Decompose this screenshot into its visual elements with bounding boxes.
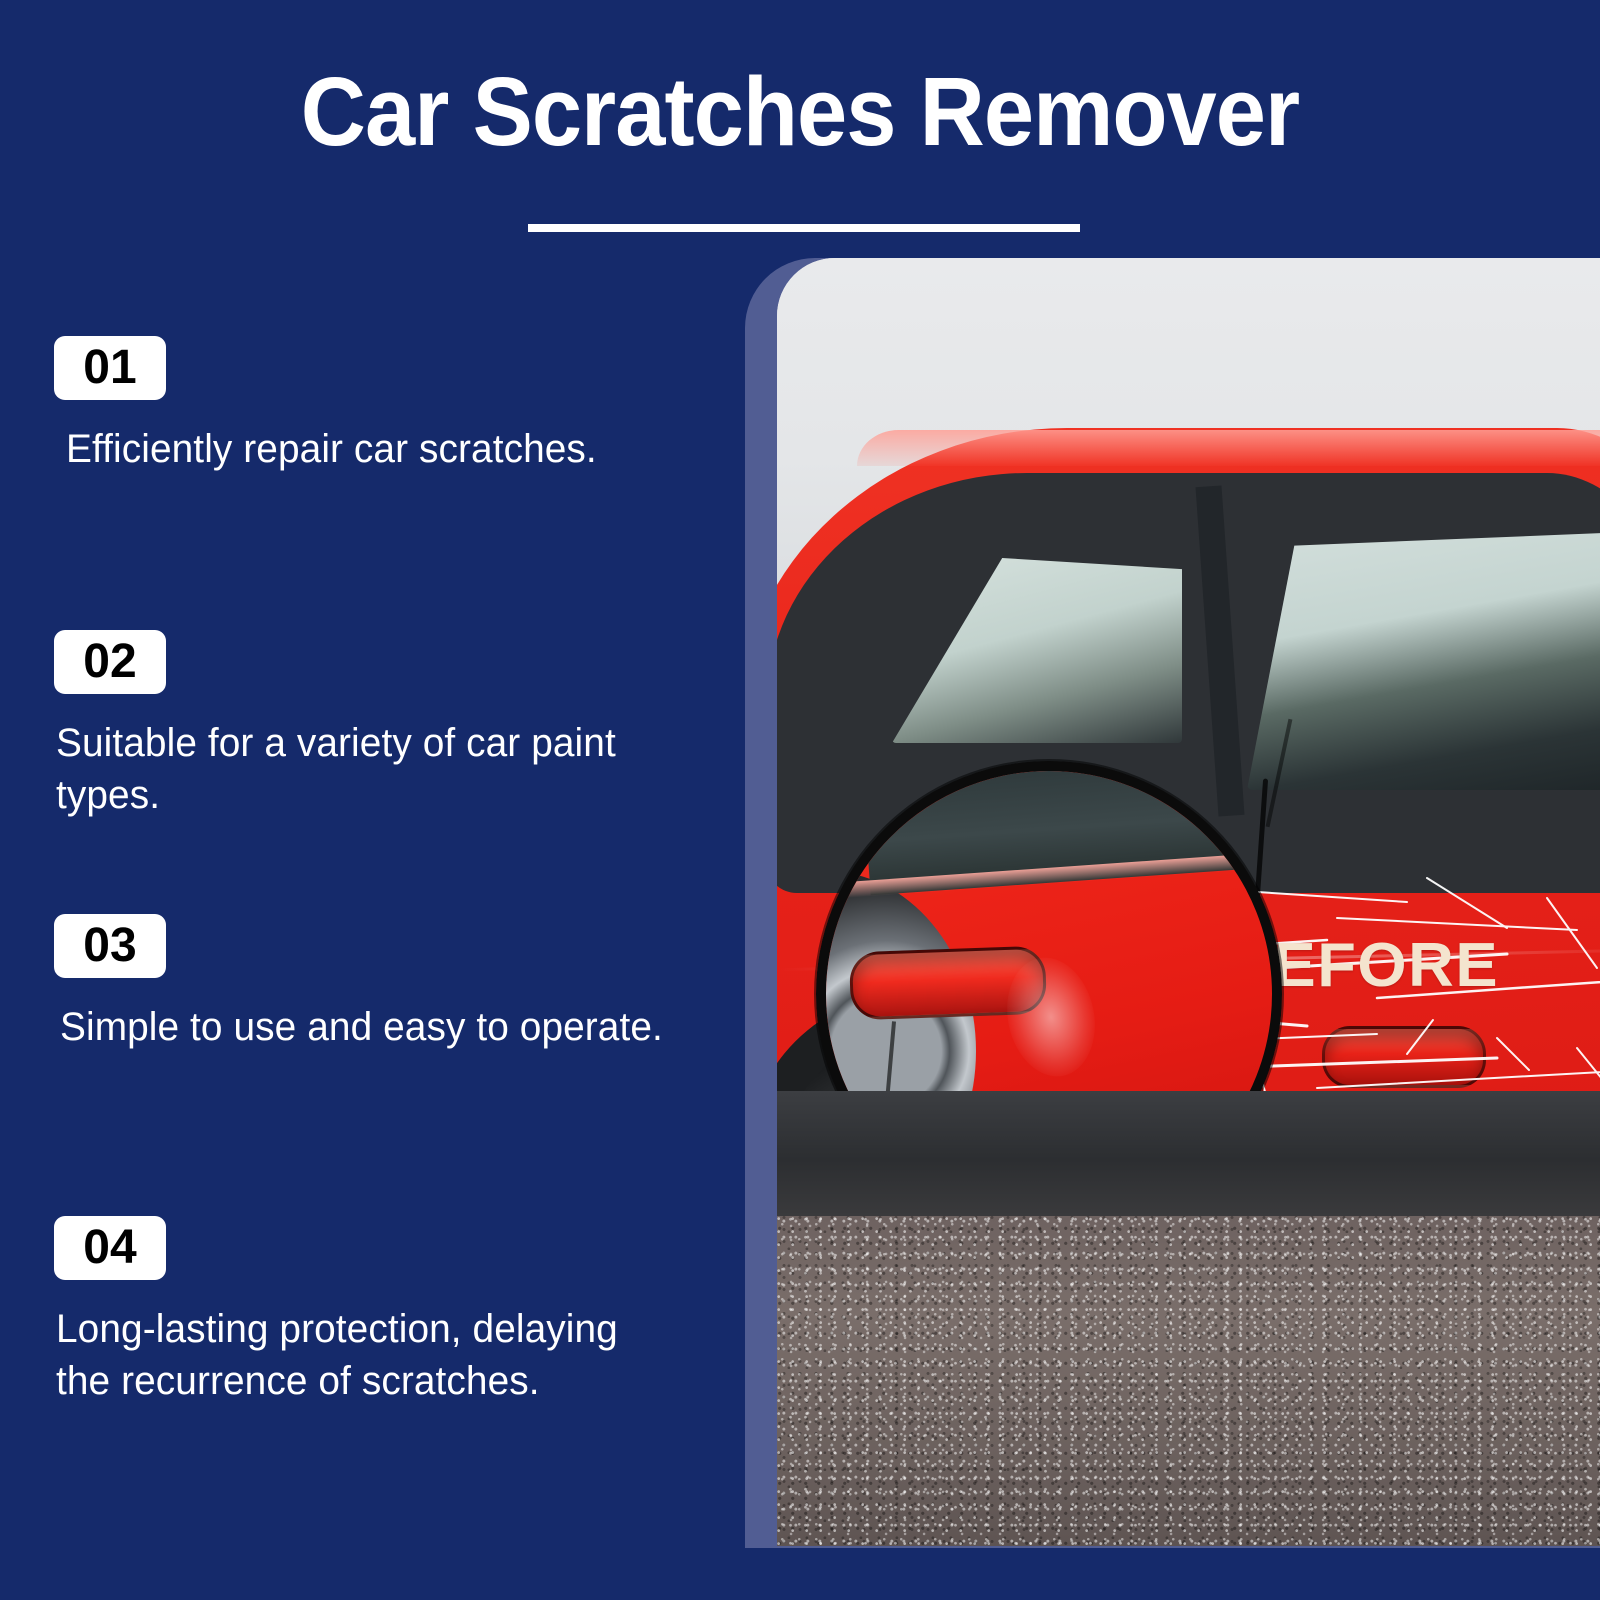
- feature-item: 03 Simple to use and easy to operate.: [0, 914, 720, 1053]
- feature-item: 04 Long-lasting protection, delaying the…: [0, 1216, 720, 1407]
- roof-highlight: [857, 430, 1600, 466]
- feature-description: Simple to use and easy to operate.: [60, 1001, 681, 1053]
- feature-item: 01 Efficiently repair car scratches.: [0, 336, 720, 475]
- feature-number-badge: 01: [54, 336, 166, 400]
- title-divider: [528, 224, 1080, 232]
- asphalt-road: [777, 1216, 1600, 1546]
- door-window-glass: [1247, 530, 1600, 790]
- under-car-shadow: [777, 1091, 1600, 1216]
- feature-description: Efficiently repair car scratches.: [66, 423, 687, 475]
- feature-description: Long-lasting protection, delaying the re…: [56, 1303, 677, 1407]
- feature-number-badge: 03: [54, 914, 166, 978]
- feature-item: 02 Suitable for a variety of car paint t…: [0, 630, 720, 821]
- feature-number-badge: 02: [54, 630, 166, 694]
- feature-description: Suitable for a variety of car paint type…: [56, 717, 677, 821]
- page-title: Car Scratches Remover: [56, 58, 1544, 167]
- product-infographic: Car Scratches Remover 01 Efficiently rep…: [0, 0, 1600, 1600]
- product-photo: BEFORE AFTER: [777, 258, 1600, 1546]
- feature-number-badge: 04: [54, 1216, 166, 1280]
